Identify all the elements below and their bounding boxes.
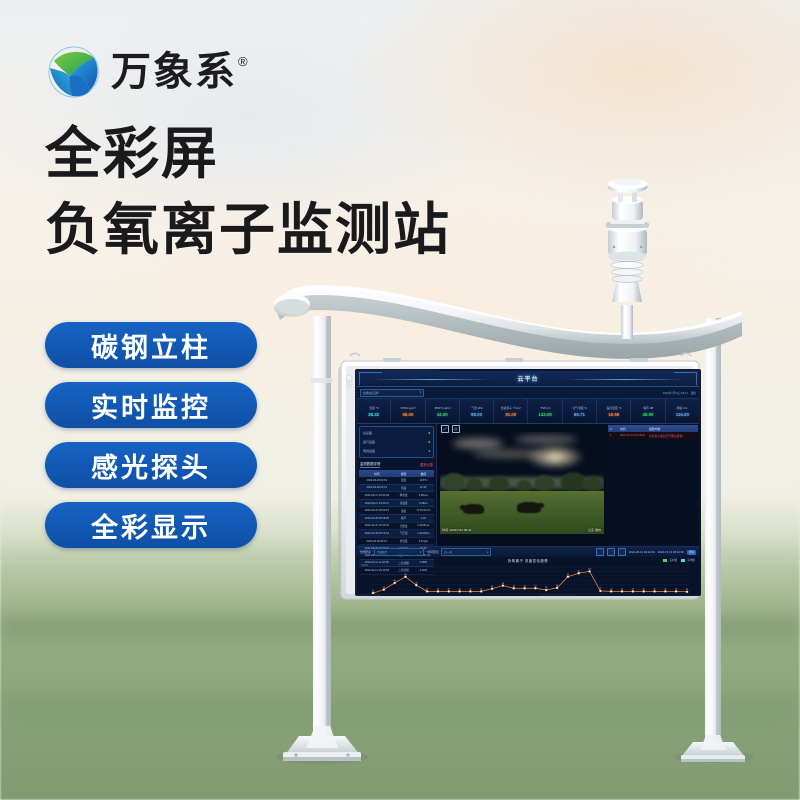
table-row[interactable]: 2022-06-20 08:18:28噪声1.01 [359,514,434,522]
grazing-animal-2 [517,502,541,513]
table-row[interactable]: 2022-06-09 08:13:10气压强1.03wS/cm [359,530,434,538]
carbon-steel-post-left [311,316,333,748]
metric-label: 露点温度 ℃ [606,406,621,410]
chart-data-point[interactable] [523,587,525,589]
hook-right [681,353,691,356]
alarm-col-1: 时间 [620,427,646,431]
metric-value: 44.00 [437,412,448,417]
chart-point-label: 58 [415,582,418,584]
chart-point-label: 30 [664,589,667,591]
chart-data-point[interactable] [567,576,569,578]
metric-4: 负氧离子 个/cm³ 91.00 [494,399,528,423]
table-cell: 蒸发量 [394,499,412,507]
legend-label: 实时值 [669,558,677,562]
chevron-down-icon: ▾ [420,391,421,394]
chart-data-point[interactable] [426,590,428,592]
chart-point-label: 30 [480,589,483,591]
metric-label: 气压 kPa [471,406,482,410]
more-records-link[interactable]: 更多记录 [420,462,433,467]
table-cell: 2022-06-28 03:19 [359,477,394,484]
table-row[interactable]: 2022-06-28 03:13风速12.18° [359,484,434,492]
metric-strip: 温度 ℃ 36.32PM10 ug/m³ 58.00PM2.5 ug/m³ 44… [357,398,699,424]
alarm-header-row: #时间报警内容 [608,425,698,432]
list-view-icon[interactable] [596,548,604,556]
video-timestamp: 时间: 2022/7/13 06:42 [442,528,471,532]
range-label: 时间范围 [427,550,438,554]
metric-3: 气压 kPa 98.00 [460,399,494,423]
device-stat-1: 运行设备2 [363,440,430,444]
chart-data-point[interactable] [632,590,634,592]
hook-left [350,353,360,356]
chart-data-point[interactable] [545,589,547,591]
alarm-col-2: 报警内容 [649,427,660,431]
table-header-bar: 监测数据详情 更多记录 [359,461,434,468]
stat-value: 1 [428,449,430,453]
metric-label: TSP µm [540,406,550,410]
station-select-bar: 监测站点选择 ▾ 2022年7月13日 06:42 退出 [357,387,699,398]
table-cell: 含氧量 [394,537,412,545]
metric-6: 空气湿度 % 66.71 [563,399,597,423]
metric-1: PM10 ug/m³ 58.00 [391,399,425,423]
chart-title: 负氧离子 浓度变化趋势 [360,558,696,563]
table-cell: 0.0615Lux [413,522,434,530]
tree-2 [466,478,482,491]
chart-control-bar: 监测因子 负氧离子 ▾ 时间范围 近一天 ▾ 2022-06-13 06:42:… [357,546,699,557]
grazing-animal-1 [463,504,484,514]
table-cell: 风速 [394,484,412,492]
metric-8: 噪声 dB 48.00 [631,399,665,423]
table-row[interactable]: 2022-06-20 15:36:18光照度0.0615Lux [359,522,434,530]
cloud-2 [515,435,577,444]
chart-data-point[interactable] [469,590,471,592]
alarm-rows: 12022-07-13 03:18:15负氧离子浓度低于阈值(报警) [608,432,698,439]
chart-point-label: 30 [448,589,451,591]
chart-data-point[interactable] [599,590,601,592]
chart-data-point[interactable] [621,590,623,592]
factor-select[interactable]: 负氧离子 ▾ [374,548,424,556]
ultrasonic-weather-sensor [606,179,649,340]
legend-label: 平均值 [687,558,695,562]
light-sensor-probe [346,375,352,389]
video-panel: ⤢ ◎ [437,424,607,546]
square-base-plate-left [283,726,361,761]
chart-data-point[interactable] [686,591,688,593]
stat-label: 运行设备 [363,440,375,444]
table-col-0: 时间 [359,470,394,477]
metric-5: TSP µm 143.00 [528,399,562,423]
metric-value: 16.58 [608,412,619,417]
metric-0: 温度 ℃ 36.32 [357,399,391,423]
chart-data-point[interactable] [383,588,385,590]
wave-canopy [274,285,742,359]
chart-data-point[interactable] [610,590,612,592]
station-select[interactable]: 监测站点选择 ▾ [360,389,424,397]
device-stat-2: 离线设备1 [363,449,430,453]
metric-value: 91.00 [505,412,516,417]
table-cell: 降水量 [394,492,412,500]
metric-label: 负氧离子 个/cm³ [501,406,521,410]
dashboard-screen: 云平台 监测站点选择 ▾ 2022年7月13日 06:42 退出 温度 ℃ 36… [357,371,699,594]
dashboard-title: 云平台 [357,374,699,383]
chart-point-label: 30 [632,589,635,591]
table-row[interactable]: 2022-06-20 08:56:34湿度17.81.5m³/h [359,507,434,515]
metric-value: 48.00 [643,412,654,417]
video-watermark: 山东 潍坊 [588,528,601,532]
chart-data-point[interactable] [556,587,558,589]
table-cell: 2022-06-20 08:56:34 [359,507,394,515]
metric-label: 空气湿度 % [572,406,586,410]
table-cell: 2022-06-28 03:13 [359,484,394,492]
metric-value: 143.00 [538,412,551,417]
cloud-1 [453,438,503,449]
factor-select-value: 负氧离子 [377,550,387,554]
chart-data-point[interactable] [513,587,515,589]
chart-point-label: 30 [469,589,472,591]
metric-value: 36.32 [368,412,379,417]
metric-value: 98.00 [471,412,482,417]
table-cell: 温度 [394,477,412,484]
tree-3 [489,476,509,491]
chart-data-point[interactable] [491,588,493,590]
chart-data-point[interactable] [404,576,406,578]
table-cell: 噪声 [394,514,412,522]
chart-point-label: 30 [437,589,440,591]
stat-label: 离线设备 [363,449,375,453]
table-cell: 13.8℃ [413,477,434,484]
metric-label: 噪声 dB [643,406,653,410]
chart-point-label: 30 [426,589,429,591]
dashboard-header: 云平台 [357,371,699,387]
alarm-cell: 负氧离子浓度低于阈值(报警) [649,434,683,438]
table-row[interactable]: 2022-06-21 16:33:11蒸发量0.08L/s [359,499,434,507]
table-cell: 0.38mm [413,492,434,500]
device-stat-0: 总设备3 [363,431,430,435]
table-cell: 湿度 [394,507,412,515]
table-cell: 12.18° [413,484,434,492]
mount-bracket-right [630,358,648,362]
legend-item-1[interactable]: 平均值 [681,558,695,562]
factor-label: 监测因子 [360,550,371,554]
mount-bracket-mid [505,358,523,362]
chart-point-label: 30 [653,589,656,591]
tree-1 [443,473,465,491]
sun-glow [525,444,585,470]
metric-label: PM2.5 ug/m³ [434,406,450,410]
table-row[interactable]: 2022-06-21 16:40:08降水量0.38mm [359,492,434,500]
video-feed[interactable]: 时间: 2022/7/13 06:42 山东 潍坊 [440,432,604,534]
table-cell: 2022-06-20 08:18:28 [359,514,394,522]
chart-data-point[interactable] [664,590,666,592]
table-cell: 0.08L/s [413,499,434,507]
chart-data-point[interactable] [675,590,677,592]
device-stat-box: 总设备3运行设备2离线设备1 [359,426,434,458]
carbon-steel-post-right [705,318,721,748]
chart-data-point[interactable] [394,582,396,584]
chart-point-label: 30 [621,589,624,591]
legend-swatch [663,559,667,562]
metric-label: PM10 ug/m³ [400,406,415,410]
chart-point-label: 44 [513,585,516,587]
alarm-row[interactable]: 12022-07-13 03:18:15负氧离子浓度低于阈值(报警) [608,432,698,439]
legend-item-0[interactable]: 实时值 [663,558,677,562]
alarm-col-0: # [610,427,617,431]
table-row[interactable]: 2022-06-09 05:13含氧量0.4mg/L [359,537,434,545]
logout-button[interactable]: 退出 [691,391,696,395]
chart-data-point[interactable] [643,590,645,592]
chart-line-svg: 0204060801001201402206-13 063806-13 1268… [370,564,690,594]
table-cell: 0.4mg/L [413,537,434,545]
chevron-down-icon: ▾ [487,551,488,554]
table-cell: 2022-06-21 16:40:08 [359,492,394,500]
trend-chart: 负氧离子 浓度变化趋势 实时值平均值 个/cm³ 020406080100120… [357,557,699,594]
stat-value: 3 [428,431,430,435]
range-select[interactable]: 近一天 ▾ [441,548,491,556]
table-head-row: 时间类型数值 [359,470,434,477]
table-cell: 2022-06-20 15:36:18 [359,522,394,530]
chart-data-point[interactable] [415,584,417,586]
table-cell: 光照度 [394,522,412,530]
table-cell: 2022-06-21 16:33:11 [359,499,394,507]
table-col-1: 类型 [394,470,412,477]
stat-label: 总设备 [363,431,372,435]
query-button[interactable]: 查询 [687,550,696,555]
chart-data-point[interactable] [534,587,536,589]
header-right-group: 2022年7月13日 06:42 退出 [663,391,696,395]
dashboard-body: 总设备3运行设备2离线设备1 监测数据详情 更多记录 时间类型数值 2022-0… [357,424,699,546]
tree-6 [561,472,585,491]
chart-data-point[interactable] [502,585,504,587]
metric-7: 露点温度 ℃ 16.58 [597,399,631,423]
metric-value: 116.00 [676,412,689,417]
square-base-plate-right [681,735,745,762]
tree-7 [584,477,602,491]
chart-point-label: 30 [675,589,678,591]
grid-view-icon[interactable] [607,548,615,556]
chevron-down-icon: ▾ [420,551,421,554]
metric-9: 风速 m/s 116.00 [666,399,699,423]
metric-value: 66.71 [574,412,585,417]
date-from[interactable]: 2022-06-13 06:42:00 [629,550,655,554]
alarm-panel: #时间报警内容 12022-07-13 03:18:15负氧离子浓度低于阈值(报… [607,424,699,546]
tree-4 [517,480,531,491]
chart-series-line [373,571,687,593]
table-cell: 2022-06-09 05:13 [359,537,394,545]
chart-y-unit: 个/cm³ [361,563,368,567]
chart-point-label: 44 [523,585,526,587]
chart-data-point[interactable] [653,590,655,592]
export-icon[interactable] [618,548,626,556]
chart-plot-area: 个/cm³ 0204060801001201402206-13 063806-1… [360,564,696,594]
chart-point-label: 30 [610,589,613,591]
chart-data-point[interactable] [480,590,482,592]
chart-data-point[interactable] [448,590,450,592]
table-cell: 17.81.5m³/h [413,507,434,515]
chart-point-label: 22 [372,590,375,592]
tree-5 [535,475,554,491]
mount-bracket-left [383,358,401,362]
table-cell: 2022-06-09 08:13:10 [359,530,394,538]
chart-point-label: 30 [459,589,462,591]
chart-point-label: 42 [491,586,494,588]
alarm-cell: 2022-07-13 03:18:15 [620,434,646,437]
chart-data-point[interactable] [459,590,461,592]
left-panel: 总设备3运行设备2离线设备1 监测数据详情 更多记录 时间类型数值 2022-0… [357,424,437,546]
table-cell: 1.01 [413,514,434,522]
chart-data-point[interactable] [437,590,439,592]
chart-point-label: 120 [588,569,592,571]
header-datetime: 2022年7月13日 06:42 [663,391,688,395]
chart-data-point[interactable] [578,572,580,574]
chart-point-label: 30 [643,589,646,591]
station-select-value: 监测站点选择 [363,391,379,395]
legend-swatch [681,559,685,562]
alarm-cell: 1 [610,434,617,437]
metric-label: 温度 ℃ [369,406,378,410]
table-col-2: 数值 [413,470,434,477]
metric-2: PM2.5 ug/m³ 44.00 [426,399,460,423]
metric-label: 风速 m/s [677,406,688,410]
range-select-value: 近一天 [444,550,452,554]
product-marketing-image: 万象系 ® 全彩屏 负氧离子监测站 碳钢立柱 实时监控 感光探头 全彩显示 [0,0,800,800]
data-table-title: 监测数据详情 [360,461,380,468]
chart-point-label: 44 [534,585,537,587]
table-cell: 1.03wS/cm [413,530,434,538]
stat-value: 2 [428,440,430,444]
date-to[interactable]: 2022-07-13 06:42:00 [658,550,684,554]
chart-legend: 实时值平均值 [663,558,695,562]
metric-value: 58.00 [402,412,413,417]
chart-data-point[interactable] [588,570,590,572]
table-cell: 气压强 [394,530,412,538]
table-row[interactable]: 2022-06-28 03:19温度13.8℃ [359,477,434,484]
